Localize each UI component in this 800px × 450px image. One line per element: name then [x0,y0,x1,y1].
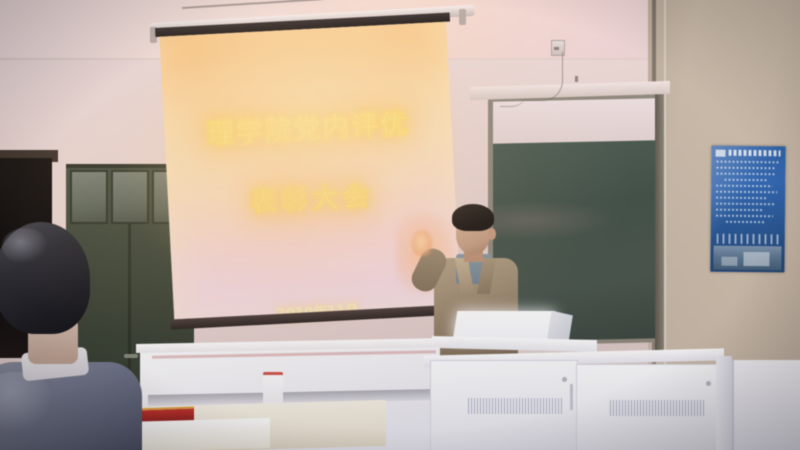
paper-sheet[interactable] [120,418,270,450]
poster-glare [710,146,785,273]
cabinet-handle[interactable] [570,384,573,410]
cabinet-screw [562,377,567,382]
cabinet-vent-right [610,400,706,416]
laptop-screen[interactable] [453,311,556,340]
door-glass-pane [70,170,108,224]
wall-poster[interactable] [710,146,785,273]
roller-bracket-right [459,9,466,25]
cabinet-far-right[interactable] [732,360,800,450]
speaker-hair [452,204,494,231]
wall-outlet-slot [554,47,559,50]
cabinet-post [716,356,732,450]
cabinet-vent-left [468,398,564,414]
speaker-raised-hand [412,230,432,256]
hanging-wire [520,52,563,101]
wall-nail [575,76,578,82]
door-glass-pane [111,170,149,224]
slide-title: 理学院党内评优 [164,100,453,154]
speaker-ear [488,228,496,240]
audience-member [0,222,138,450]
audience-hair-highlight [2,228,48,264]
blackboard-right-edge [655,90,664,350]
cabinet-screw [706,381,711,386]
lecture-hall-photo: 理学院党内评优 表彰大会 2010年11月 [0,0,800,450]
